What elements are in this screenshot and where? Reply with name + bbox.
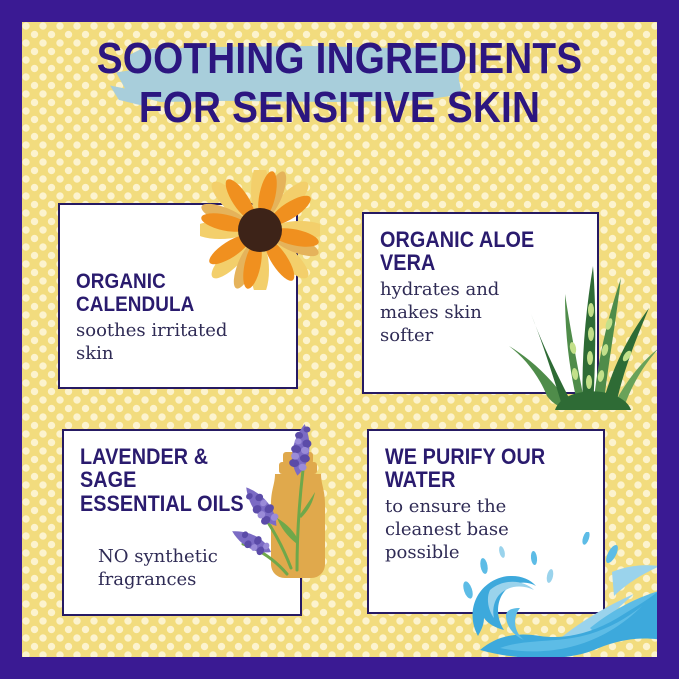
card-aloe-vera: ORGANIC ALOE VERA hydrates and makes ski… [362,212,599,394]
card-calendula-heading: ORGANIC CALENDULA [76,271,260,316]
card-calendula: ORGANIC CALENDULA soothes irritated skin [58,203,298,389]
card-aloe-vera-content: ORGANIC ALOE VERA hydrates and makes ski… [364,214,597,392]
card-lavender-sage-body: NO synthetic fragrances [98,545,284,591]
card-calendula-body: soothes irritated skin [76,319,280,365]
card-lavender-sage-heading: LAVENDER & SAGE ESSENTIAL OILS [80,445,264,515]
page-title: SOOTHING INGREDIENTS FOR SENSITIVE SKIN [22,38,657,129]
card-calendula-content: ORGANIC CALENDULA soothes irritated skin [60,205,296,387]
card-aloe-vera-heading: ORGANIC ALOE VERA [380,228,561,275]
card-purified-water-content: WE PURIFY OUR WATER to ensure the cleane… [369,431,603,612]
card-lavender-sage-content: LAVENDER & SAGE ESSENTIAL OILS NO synthe… [64,431,300,614]
card-purified-water: WE PURIFY OUR WATER to ensure the cleane… [367,429,605,614]
title-line-2: FOR SENSITIVE SKIN [60,87,619,129]
card-purified-water-body: to ensure the cleanest base possible [385,495,587,564]
title-line-1: SOOTHING INGREDIENTS [60,38,619,80]
card-purified-water-heading: WE PURIFY OUR WATER [385,445,567,492]
card-aloe-vera-body: hydrates and makes skin softer [380,278,581,347]
polka-dot-background: SOOTHING INGREDIENTS FOR SENSITIVE SKIN … [22,22,657,657]
card-lavender-sage: LAVENDER & SAGE ESSENTIAL OILS NO synthe… [62,429,302,616]
infographic-poster: SOOTHING INGREDIENTS FOR SENSITIVE SKIN … [0,0,679,679]
